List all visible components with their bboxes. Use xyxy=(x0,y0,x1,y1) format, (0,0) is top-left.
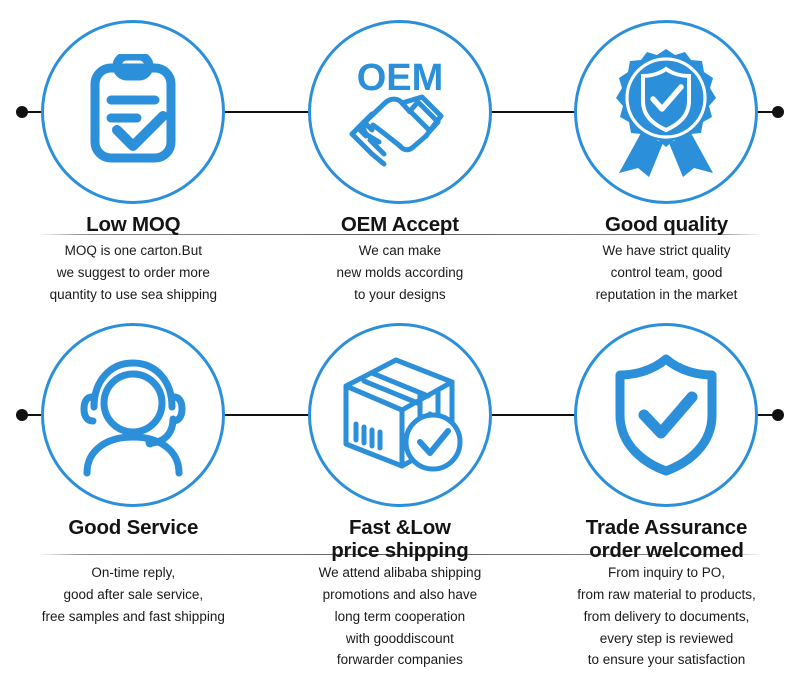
desc-cell-good-service: On-time reply, good after sale service, … xyxy=(0,562,267,671)
icon-circle-trade-assurance xyxy=(574,323,758,507)
desc-cell-good-quality: We have strict quality control team, goo… xyxy=(533,240,800,306)
panel-low-moq[interactable]: Low MOQ xyxy=(0,20,267,237)
desc-cell-trade-assurance: From inquiry to PO, from raw material to… xyxy=(533,562,800,671)
clipboard-check-icon xyxy=(79,54,187,170)
icon-circle-low-moq xyxy=(41,20,225,204)
panel-title-oem-accept: OEM Accept xyxy=(341,214,459,237)
panel-title-good-service: Good Service xyxy=(68,517,198,540)
headset-support-agent-icon xyxy=(72,353,194,477)
top-row: Low MOQ OEM xyxy=(0,0,800,320)
desc-cell-fast-low-price-shipping: We attend alibaba shipping promotions an… xyxy=(267,562,534,671)
icon-circle-good-quality xyxy=(574,20,758,204)
benefits-infographic: Low MOQ OEM xyxy=(0,0,800,688)
panel-description-trade-assurance: From inquiry to PO, from raw material to… xyxy=(577,562,756,671)
panel-description-fast-low-price-shipping: We attend alibaba shipping promotions an… xyxy=(319,562,482,671)
top-row-panels: Low MOQ OEM xyxy=(0,20,800,237)
panel-title-fast-low-price-shipping: Fast &Low price shipping xyxy=(331,517,468,563)
panel-description-good-quality: We have strict quality control team, goo… xyxy=(596,240,738,306)
panel-oem-accept[interactable]: OEM xyxy=(267,20,534,237)
shield-check-icon xyxy=(608,353,724,477)
panel-description-good-service: On-time reply, good after sale service, … xyxy=(42,562,225,671)
icon-circle-fast-low-price-shipping xyxy=(308,323,492,507)
panel-description-oem-accept: We can make new molds according to your … xyxy=(336,240,463,306)
bottom-row-descriptions: On-time reply, good after sale service, … xyxy=(0,562,800,671)
panel-title-trade-assurance: Trade Assurance order welcomed xyxy=(586,517,747,563)
panel-good-service[interactable]: Good Service xyxy=(0,323,267,563)
panel-trade-assurance[interactable]: Trade Assurance order welcomed xyxy=(533,323,800,563)
panel-description-low-moq: MOQ is one carton.But we suggest to orde… xyxy=(50,240,217,306)
top-row-descriptions: MOQ is one carton.But we suggest to orde… xyxy=(0,240,800,306)
desc-cell-low-moq: MOQ is one carton.But we suggest to orde… xyxy=(0,240,267,306)
package-box-check-icon xyxy=(334,352,466,478)
desc-cell-oem-accept: We can make new molds according to your … xyxy=(267,240,534,306)
icon-circle-good-service xyxy=(41,323,225,507)
panel-title-low-moq: Low MOQ xyxy=(86,214,180,237)
panel-title-good-quality: Good quality xyxy=(605,214,728,237)
panel-fast-low-price-shipping[interactable]: Fast &Low price shipping xyxy=(267,323,534,563)
oem-handshake-icon: OEM xyxy=(338,50,462,174)
bottom-row: Good Service xyxy=(0,320,800,688)
quality-badge-shield-icon xyxy=(603,47,729,177)
bottom-row-panels: Good Service xyxy=(0,323,800,563)
panel-good-quality[interactable]: Good quality xyxy=(533,20,800,237)
oem-icon-text: OEM xyxy=(357,57,444,99)
icon-circle-oem-accept: OEM xyxy=(308,20,492,204)
